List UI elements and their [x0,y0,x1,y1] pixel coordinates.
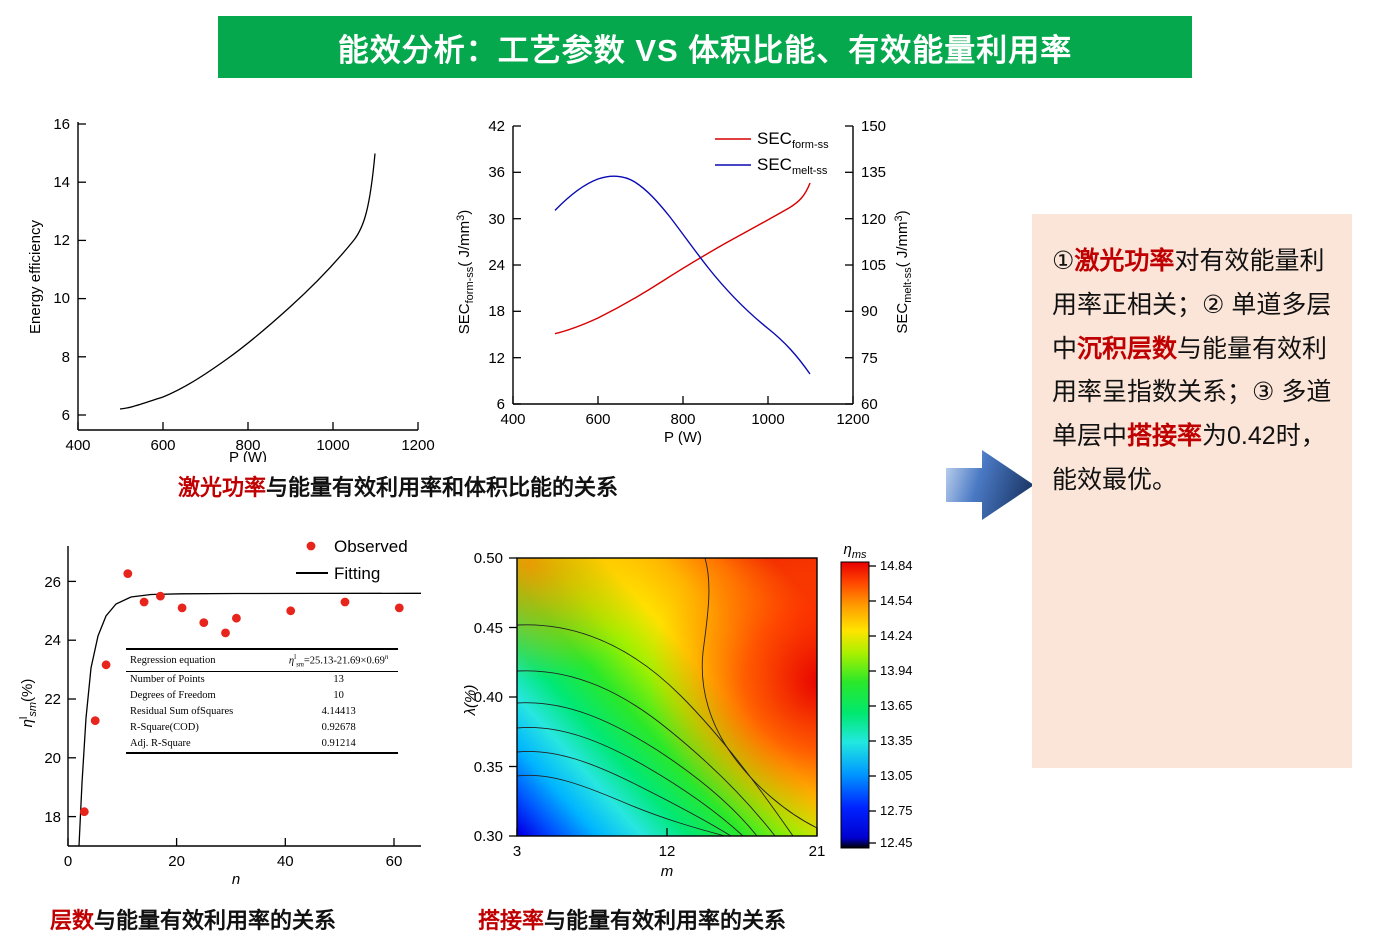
y-axis-label-left: SECform-ss( J/mm3) [455,210,476,334]
x-tick-600: 600 [585,411,610,428]
data-point [140,598,149,607]
row-label: Adj. R-Square [126,736,279,753]
y-tick-20: 20 [44,750,61,767]
x-tick-0: 0 [64,853,72,870]
data-point [221,629,230,638]
flow-arrow [944,430,1038,540]
caption-power-rest: 与能量有效利用率和体积比能的关系 [266,475,618,500]
colorbar-tick-8: 12.45 [880,835,913,850]
data-point [102,660,111,669]
x-tick-600: 600 [150,437,175,454]
row-label: Degrees of Freedom [126,688,279,704]
x-tick-400: 400 [500,411,525,428]
row-label: R-Square(COD) [126,720,279,736]
legend-label-melt: SECmelt-ss [757,155,828,177]
data-point [395,604,404,613]
data-point [178,604,187,613]
legend: SECform-ss SECmelt-ss [715,129,829,177]
energy-efficiency-curve [120,154,375,410]
y-tick-16: 16 [53,116,70,133]
y-left-tick-24: 24 [488,257,505,274]
legend: Observed Fitting [296,537,408,583]
x-tick-1200: 1200 [836,411,869,428]
colorbar-label: ηms [844,541,867,561]
table-row: Regression equation ηlsm=25.13-21.69×0.6… [126,649,398,671]
right-arrow-icon [946,450,1034,520]
page-title: 能效分析：工艺参数 VS 体积比能、有效能量利用率 [338,25,1073,70]
row-label: Number of Points [126,671,279,688]
regression-table: Regression equation ηlsm=25.13-21.69×0.6… [126,648,398,754]
y-tick-045: 0.45 [474,620,503,637]
data-point [80,807,89,816]
row-label: Residual Sum ofSquares [126,704,279,720]
caption-power-highlight: 激光功率 [178,475,266,500]
row-label: Regression equation [126,649,279,671]
y-left-tick-30: 30 [488,211,505,228]
chart-energy-efficiency: 16 14 12 10 8 6 400 600 800 1000 1200 P … [18,112,438,462]
row-value: 13 [279,671,398,688]
x-tick-20: 20 [168,853,185,870]
y-ticks-left [513,126,521,404]
x-axis-label: n [232,871,240,888]
y-left-tick-42: 42 [488,118,505,135]
y-ticks [509,558,517,836]
seg-1: 激光功率 [1074,247,1174,275]
x-ticks [513,396,853,404]
y-tick-24: 24 [44,632,61,649]
x-tick-21: 21 [809,843,826,860]
data-point [199,618,208,627]
legend-swatch-observed [307,542,316,551]
y-tick-18: 18 [44,809,61,826]
x-tick-40: 40 [277,853,294,870]
y-axis-label: Energy efficiency [27,220,44,334]
caption-overlap: 搭接率与能量有效利用率的关系 [478,903,786,935]
data-point [232,614,241,623]
y-ticks [78,124,86,415]
colorbar-tick-4: 13.65 [880,698,913,713]
caption-layers-highlight: 层数 [50,908,94,933]
y-tick-035: 0.35 [474,759,503,776]
colorbar [841,562,869,848]
x-tick-60: 60 [386,853,403,870]
caption-overlap-highlight: 搭接率 [478,908,544,933]
y-left-tick-12: 12 [488,350,505,367]
legend-label-fitting: Fitting [334,564,380,583]
y-tick-050: 0.50 [474,550,503,567]
y-left-tick-18: 18 [488,303,505,320]
y-axis-label-right: SECmelt-ss( J/mm3) [893,210,914,333]
table-row: R-Square(COD) 0.92678 [126,720,398,736]
y-right-tick-75: 75 [861,350,878,367]
colorbar-tick-3: 13.94 [880,663,913,678]
legend-label-form: SECform-ss [757,129,829,151]
table-row: Residual Sum ofSquares 4.14413 [126,704,398,720]
y-right-tick-120: 120 [861,211,886,228]
contour-field [517,558,817,836]
row-value: 10 [279,688,398,704]
table-row: Degrees of Freedom 10 [126,688,398,704]
chart-sec-dual-axis: 42 36 30 24 18 12 6 150 135 120 105 90 7… [425,112,925,464]
caption-overlap-rest: 与能量有效利用率的关系 [544,908,786,933]
sec-melt-ss-curve [555,176,810,374]
y-tick-030: 0.30 [474,828,503,845]
y-axis-label: λ(%) [462,685,479,717]
colorbar-tick-6: 13.05 [880,768,913,783]
y-axis-label: ηlsm(%) [18,679,39,728]
colorbar-ticks [869,566,876,843]
x-tick-1000: 1000 [751,411,784,428]
y-tick-8: 8 [62,349,70,366]
x-tick-400: 400 [65,437,90,454]
y-ticks [68,581,76,816]
y-tick-22: 22 [44,691,61,708]
colorbar-tick-5: 13.35 [880,733,913,748]
seg-0: ① [1052,247,1074,275]
x-axis-label: P (W) [229,449,267,462]
chart-eta-contour: 0.50 0.45 0.40 0.35 0.30 3 12 21 m λ(%) … [455,540,915,890]
row-value: ηlsm=25.13-21.69×0.69n [279,649,398,671]
y-left-tick-36: 36 [488,164,505,181]
y-ticks-right [845,126,853,404]
seg-7: 搭接率 [1127,422,1202,450]
caption-layers: 层数与能量有效利用率的关系 [50,903,336,935]
x-tick-3: 3 [513,843,521,860]
y-tick-6: 6 [62,407,70,424]
data-point [91,716,100,725]
conclusion-panel: ①激光功率对有效能量利用率正相关；② 单道多层中沉积层数与能量有效利用率呈指数关… [1032,214,1352,768]
colorbar-tick-7: 12.75 [880,803,913,818]
legend-label-observed: Observed [334,537,408,556]
colorbar-tick-2: 14.24 [880,628,913,643]
caption-layers-rest: 与能量有效利用率的关系 [94,908,336,933]
y-tick-10: 10 [53,290,70,307]
y-right-tick-90: 90 [861,303,878,320]
x-tick-12: 12 [659,843,676,860]
caption-power: 激光功率与能量有效利用率和体积比能的关系 [178,470,618,502]
y-right-tick-105: 105 [861,257,886,274]
data-point [156,592,165,601]
x-axis-label: m [661,863,674,880]
y-right-tick-150: 150 [861,118,886,135]
title-banner: 能效分析：工艺参数 VS 体积比能、有效能量利用率 [218,16,1192,78]
x-axis-label: P (W) [664,429,702,446]
colorbar-tick-0: 14.84 [880,558,913,573]
colorbar-tick-1: 14.54 [880,593,913,608]
y-right-tick-135: 135 [861,164,886,181]
row-value: 4.14413 [279,704,398,720]
row-value: 0.92678 [279,720,398,736]
x-tick-800: 800 [670,411,695,428]
row-value: 0.91214 [279,736,398,753]
table-row: Number of Points 13 [126,671,398,688]
y-tick-14: 14 [53,174,70,191]
table-row: Adj. R-Square 0.91214 [126,736,398,753]
y-tick-12: 12 [53,232,70,249]
data-point [341,598,350,607]
x-ticks [68,838,394,846]
sec-form-ss-curve [555,183,810,334]
conclusion-text: ①激光功率对有效能量利用率正相关；② 单道多层中沉积层数与能量有效利用率呈指数关… [1032,214,1352,503]
data-point [286,606,295,615]
data-point [123,569,132,578]
y-tick-26: 26 [44,574,61,591]
x-ticks [78,422,418,430]
regression-equation: =25.13-21.69×0.69 [304,655,385,666]
x-tick-1000: 1000 [316,437,349,454]
seg-4: 沉积层数 [1077,335,1177,363]
